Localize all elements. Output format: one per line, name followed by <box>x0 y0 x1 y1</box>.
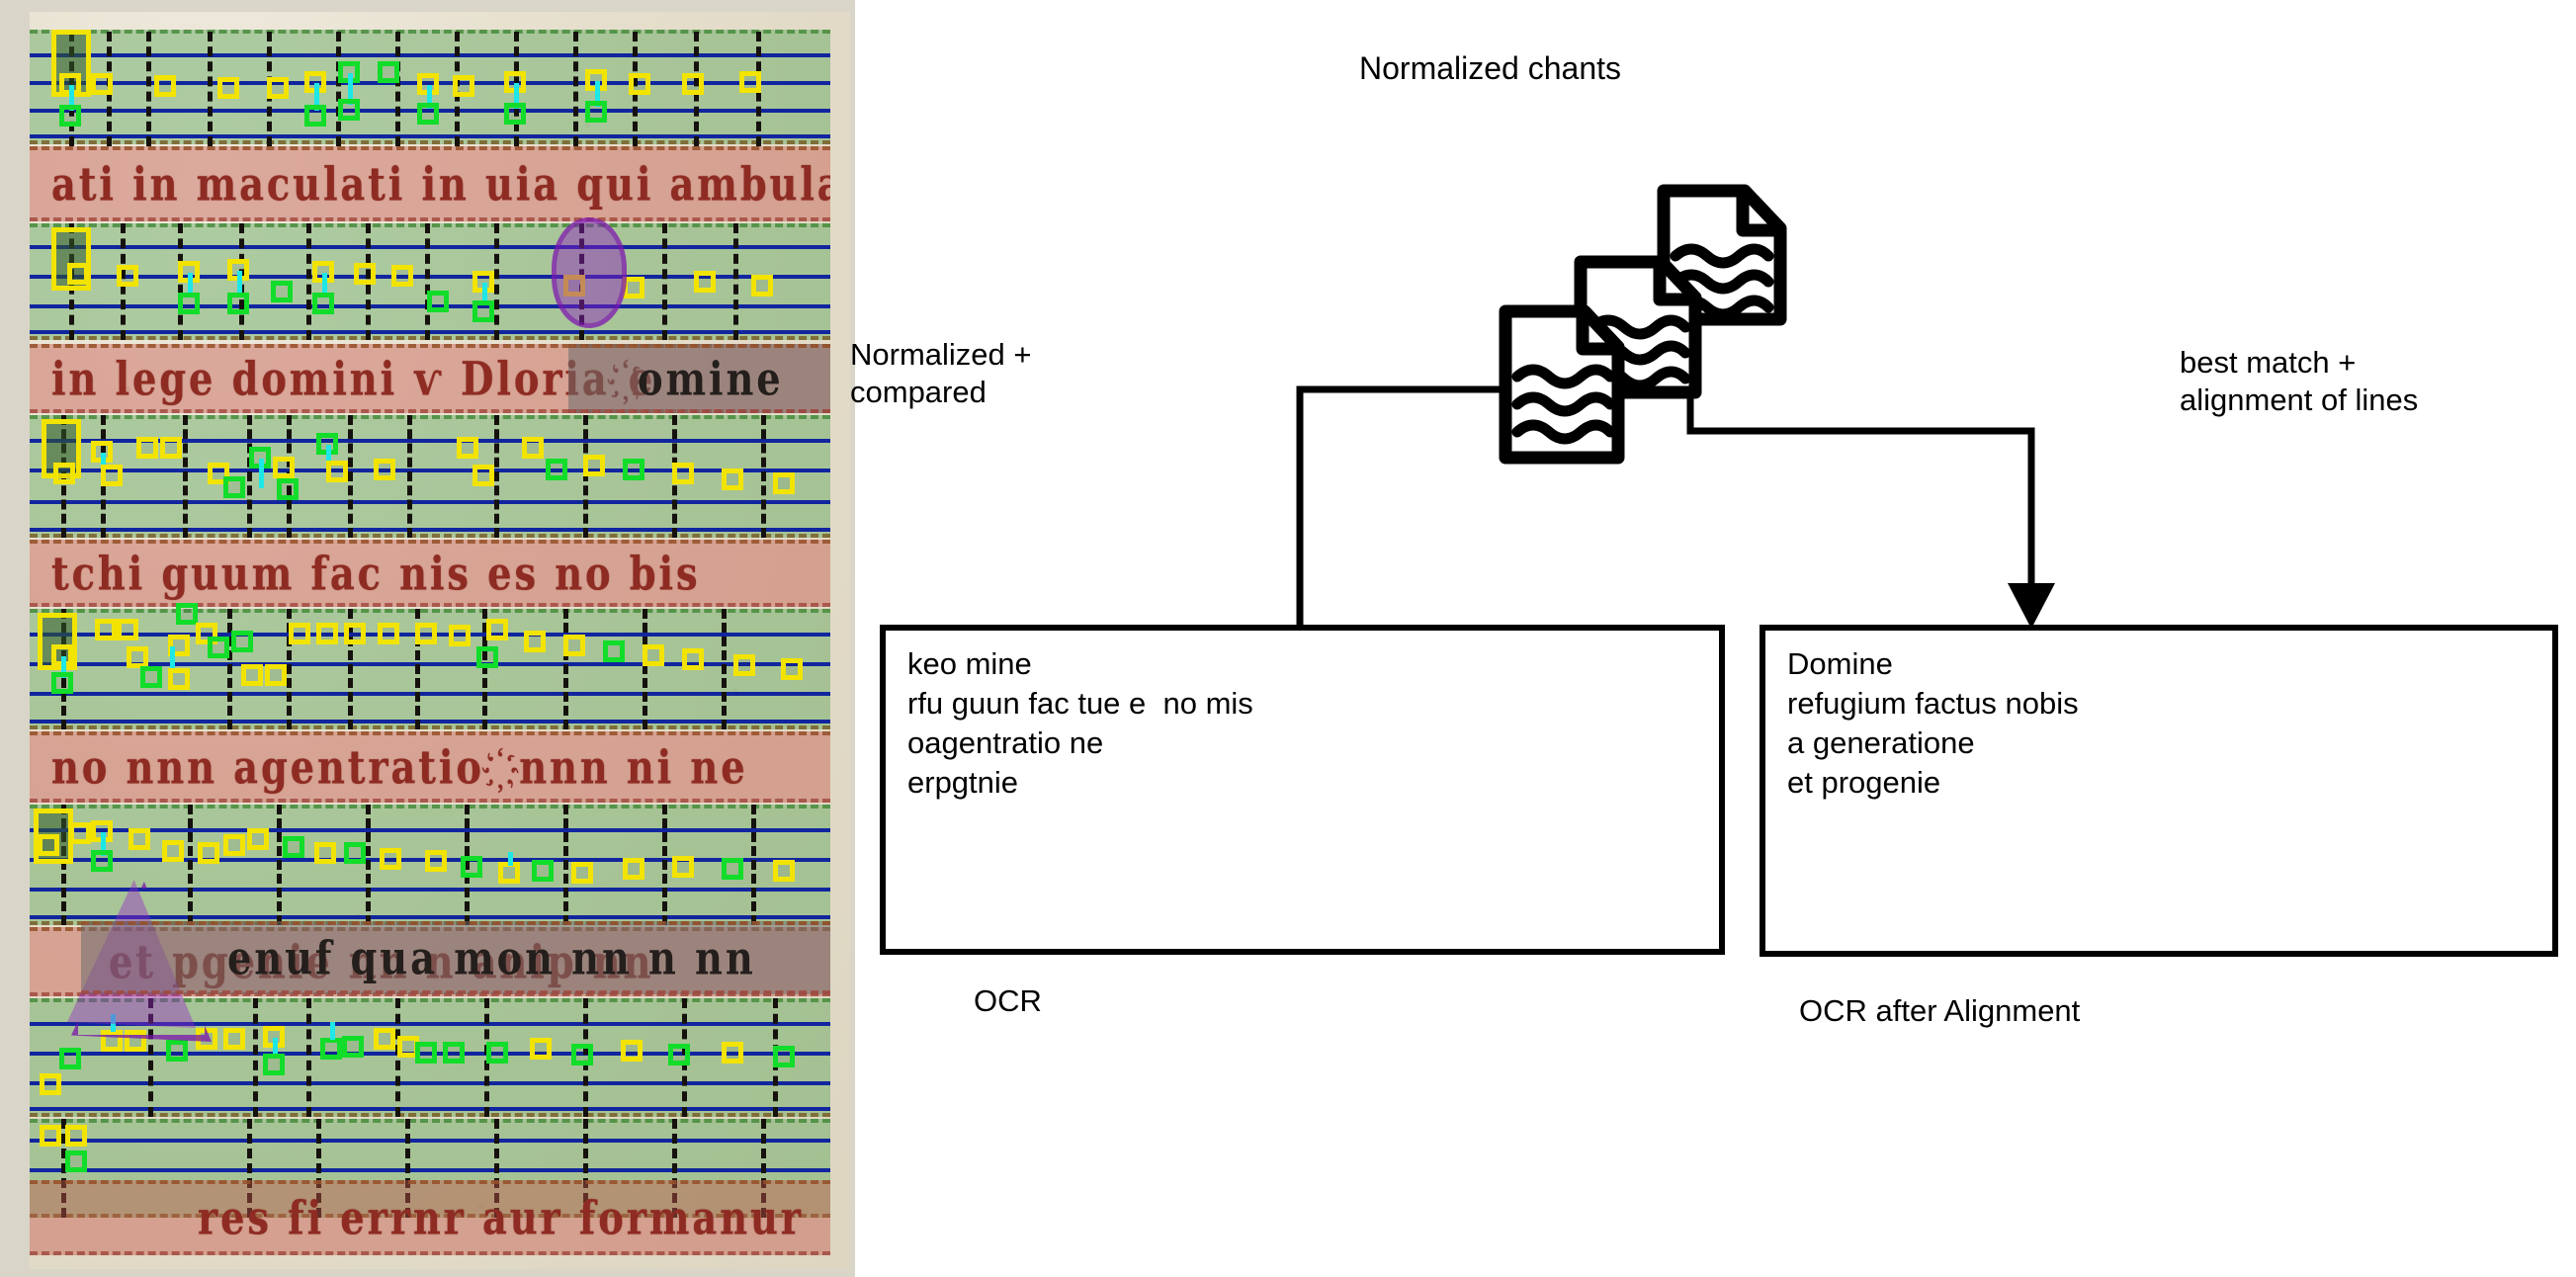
column-separator <box>395 32 400 146</box>
column-separator <box>306 223 311 340</box>
note-marker <box>722 468 743 490</box>
note-marker <box>532 860 554 882</box>
note-marker <box>51 672 73 694</box>
note-marker <box>344 842 366 864</box>
note-marker <box>168 668 190 690</box>
note-marker <box>391 265 413 287</box>
manuscript-text-line: ati in maculati in uia qui ambulant <box>51 156 830 211</box>
note-marker <box>65 1150 87 1172</box>
column-separator <box>722 609 727 729</box>
note-marker <box>486 619 508 640</box>
note-marker <box>140 666 162 688</box>
note-marker <box>773 472 795 494</box>
pipeline-diagram: Normalized chants Normalized + compared … <box>855 0 2576 1277</box>
note-marker <box>136 437 158 459</box>
manuscript-text-line: enuf qua mon nn n nn <box>227 930 756 984</box>
note-marker <box>668 1044 690 1065</box>
note-marker <box>223 476 245 498</box>
text-line-band-gray: enuf qua mon nn n nn <box>81 921 830 994</box>
column-separator <box>336 32 341 146</box>
note-marker <box>59 105 81 127</box>
column-separator <box>643 609 647 729</box>
note-marker <box>583 455 605 476</box>
manuscript-text-line: res fi errnr aur formanur <box>198 1190 804 1244</box>
note-marker <box>461 856 482 878</box>
note-marker <box>629 73 650 95</box>
note-marker <box>208 637 229 658</box>
note-marker <box>241 664 263 686</box>
note-marker <box>380 848 401 870</box>
note-marker <box>415 1042 437 1064</box>
note-marker <box>623 858 644 880</box>
note-marker <box>38 834 59 856</box>
column-separator <box>306 998 311 1117</box>
ocr-aligned-output-text: Domine refugium factus nobis a generatio… <box>1787 644 2542 803</box>
ocr-aligned-output-box: Domine refugium factus nobis a generatio… <box>1760 625 2558 957</box>
note-stem <box>330 1022 335 1040</box>
note-marker <box>154 75 176 97</box>
note-marker <box>263 1054 285 1075</box>
note-marker <box>312 293 334 314</box>
note-marker <box>129 828 150 850</box>
note-marker <box>67 263 89 285</box>
note-marker <box>504 103 526 125</box>
note-marker <box>231 631 253 652</box>
note-stem <box>508 852 513 866</box>
parchment-background: ati in maculati in uia qui ambulant <box>30 12 850 1269</box>
manuscript-text-line: tchi guum fac nis es no bis <box>51 546 700 600</box>
note-marker <box>682 648 704 670</box>
note-marker <box>374 1028 395 1050</box>
column-separator <box>662 223 667 340</box>
note-marker <box>320 1038 342 1060</box>
note-marker <box>682 73 704 95</box>
ocr-output-box: keo mine rfu guun fac tue e no mis oagen… <box>880 625 1725 955</box>
note-marker <box>571 862 593 884</box>
note-marker <box>198 842 219 864</box>
note-marker <box>314 842 336 864</box>
staff-line <box>30 245 830 249</box>
note-marker <box>265 664 287 686</box>
staff-line <box>30 330 830 334</box>
note-marker <box>546 459 567 480</box>
note-marker <box>91 850 113 872</box>
caption-ocr: OCR <box>974 983 1042 1019</box>
column-separator <box>573 32 578 146</box>
note-marker <box>277 478 299 500</box>
note-marker <box>476 646 498 668</box>
note-marker <box>643 644 664 666</box>
manuscript-panel: ati in maculati in uia qui ambulant <box>0 0 855 1277</box>
note-marker <box>283 836 304 858</box>
note-marker <box>472 300 494 322</box>
note-marker <box>227 293 249 314</box>
column-separator <box>395 998 400 1117</box>
note-marker <box>176 603 198 625</box>
column-separator <box>751 805 756 925</box>
note-marker <box>289 623 310 644</box>
manuscript-text-line: in lege domini ѵ Dloria ҉e <box>51 351 655 405</box>
note-marker <box>694 271 716 293</box>
text-line-band: ati in maculati in uia qui ambulant <box>30 146 830 221</box>
note-marker <box>378 623 399 644</box>
column-separator <box>188 805 193 925</box>
note-marker <box>453 75 474 97</box>
column-separator <box>733 223 738 340</box>
note-marker <box>486 1042 508 1064</box>
note-marker <box>751 275 773 297</box>
column-separator <box>227 609 232 729</box>
note-marker <box>524 631 546 652</box>
note-marker <box>722 1042 743 1064</box>
column-separator <box>348 415 353 538</box>
stacked-documents-icon <box>1488 173 1804 489</box>
staff-line <box>30 720 830 724</box>
note-marker <box>563 635 585 656</box>
note-marker <box>425 850 447 872</box>
note-marker <box>344 623 366 644</box>
note-marker <box>59 1048 81 1069</box>
annotation-highlight <box>552 217 627 328</box>
note-marker <box>522 437 544 459</box>
note-stem <box>259 459 264 488</box>
note-marker <box>247 828 269 850</box>
note-marker <box>354 263 376 285</box>
text-line-band-gray: omine <box>568 344 830 413</box>
note-marker <box>571 1044 593 1065</box>
column-separator <box>583 415 588 538</box>
column-separator <box>563 805 568 925</box>
note-marker <box>69 822 91 844</box>
ocr-output-text: keo mine rfu guun fac tue e no mis oagen… <box>907 644 1709 803</box>
note-marker <box>415 623 437 644</box>
column-separator <box>425 223 430 340</box>
note-marker <box>178 293 200 314</box>
column-separator <box>494 415 499 538</box>
staff-line <box>30 528 830 532</box>
note-marker <box>773 1046 795 1067</box>
column-separator <box>761 415 766 538</box>
note-marker <box>316 623 338 644</box>
staff-line <box>30 692 830 696</box>
note-marker <box>267 77 289 99</box>
note-marker <box>449 625 471 646</box>
note-marker <box>162 840 184 862</box>
column-separator <box>277 805 282 925</box>
note-marker <box>65 1125 87 1147</box>
note-marker <box>117 619 138 640</box>
note-marker <box>40 1073 61 1095</box>
column-separator <box>662 805 667 925</box>
note-marker <box>623 459 644 480</box>
note-marker <box>585 101 607 123</box>
note-marker <box>621 1040 643 1062</box>
column-separator <box>146 32 151 146</box>
note-marker <box>223 834 245 856</box>
note-marker <box>304 105 326 127</box>
manuscript-text-line: omine <box>638 351 784 405</box>
note-marker <box>273 457 295 478</box>
staff-line <box>30 1168 830 1172</box>
note-marker <box>427 291 449 312</box>
column-separator <box>183 415 188 538</box>
note-marker <box>374 459 395 480</box>
caption-ocr-after-alignment: OCR after Alignment <box>1799 993 2080 1029</box>
figure-root: ati in maculati in uia qui ambulant <box>0 0 2576 1277</box>
note-marker <box>378 61 399 83</box>
note-marker <box>91 73 113 95</box>
column-separator <box>563 609 568 729</box>
text-line-band: res fi errnr aur formanur <box>30 1180 830 1255</box>
note-marker <box>101 465 123 486</box>
note-marker <box>722 858 743 880</box>
note-marker <box>217 77 239 99</box>
note-marker <box>127 646 148 668</box>
note-marker <box>739 71 761 93</box>
note-marker <box>603 640 625 662</box>
column-separator <box>407 415 412 538</box>
staff-line <box>30 468 830 472</box>
note-marker <box>223 1028 245 1050</box>
note-marker <box>53 463 75 484</box>
note-marker <box>443 1042 465 1064</box>
note-marker <box>530 1038 552 1060</box>
column-separator <box>253 998 258 1117</box>
note-marker <box>733 654 755 676</box>
note-marker <box>672 856 694 878</box>
column-separator <box>494 223 499 340</box>
note-marker <box>271 281 293 302</box>
note-marker <box>40 1125 61 1147</box>
note-marker <box>417 103 439 125</box>
note-marker <box>95 619 117 640</box>
note-marker <box>160 437 182 459</box>
staff-line <box>30 888 830 892</box>
note-marker <box>472 465 494 486</box>
text-line-band: no nnn agentratio ҉ nnn ni ne <box>30 731 830 803</box>
note-marker <box>117 265 138 287</box>
manuscript-text-line: no nnn agentratio ҉ nnn ni ne <box>51 739 748 794</box>
note-marker <box>166 1040 188 1062</box>
note-marker <box>342 1036 364 1058</box>
staff-band <box>30 415 830 538</box>
text-line-band: tchi guum fac nis es no bis <box>30 540 830 607</box>
note-marker <box>457 437 478 459</box>
staff-line <box>30 1139 830 1143</box>
staff-line <box>30 500 830 504</box>
column-separator <box>247 415 252 538</box>
note-marker <box>672 463 694 484</box>
column-separator <box>208 32 213 146</box>
note-marker <box>781 658 803 680</box>
note-marker <box>338 99 360 121</box>
column-separator <box>366 805 371 925</box>
note-marker <box>773 860 795 882</box>
note-marker <box>326 461 348 482</box>
